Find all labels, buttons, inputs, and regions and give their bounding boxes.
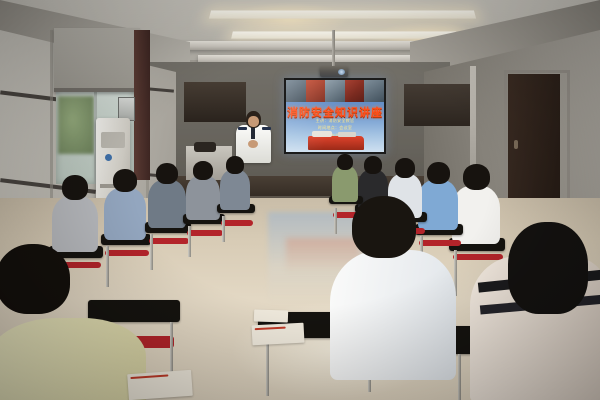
projector-mount-pole (332, 30, 335, 68)
chair-seat (149, 238, 189, 244)
chair-seat (419, 240, 461, 246)
chair-seat (221, 220, 253, 226)
attendee-head (427, 162, 450, 184)
notebook-left[interactable] (127, 370, 193, 400)
presenter-face (248, 116, 259, 127)
attendee-head (193, 161, 213, 180)
window-foliage (58, 96, 94, 154)
slide-photo-team (364, 80, 384, 102)
slide-fire-engine-graphic (308, 136, 364, 150)
attendee-foreground-center-head (352, 196, 416, 258)
notebook-center[interactable] (252, 323, 305, 346)
presenter-epaulet-left (238, 127, 247, 130)
attendee-foreground-left-head (0, 244, 70, 314)
attendee-torso (52, 196, 98, 252)
ceiling-light-strip-1 (209, 10, 476, 18)
attendee-torso (104, 188, 146, 240)
chair-leg (150, 234, 153, 270)
ceiling-light-strip-2 (231, 31, 458, 38)
right-wall-panel (404, 84, 470, 126)
window-curtain[interactable] (134, 30, 150, 180)
attendee-foreground-left-torso (0, 318, 146, 400)
attendee-foreground-center-torso (330, 250, 456, 380)
attendee-torso (148, 180, 186, 228)
meeting-room-photo: 消防安全知识讲座 主讲：消防安全教官 时间地点：会议室 主办：安全管理处 (0, 0, 600, 400)
attendee-torso (220, 170, 250, 210)
attendee-torso (418, 180, 458, 230)
chair-seat (453, 254, 503, 260)
door-handle-icon[interactable] (514, 140, 518, 149)
notebook-mid[interactable] (254, 309, 288, 322)
attendee-head (364, 156, 382, 174)
air-conditioner-display (101, 132, 125, 148)
air-conditioner-indicator (105, 154, 112, 161)
attendee-head (156, 163, 178, 184)
slide-photo-flame (345, 80, 365, 102)
attendee-torso (452, 186, 500, 244)
roller-blind[interactable] (54, 28, 140, 92)
slide-subtitle-2: 时间地点：会议室 (286, 125, 384, 131)
attendee-head (463, 164, 490, 190)
chair-leg (334, 208, 337, 234)
chair-leg (222, 216, 225, 242)
chair-leg (188, 226, 191, 257)
slide-photo-rescue (286, 80, 306, 102)
presenter-epaulet-right (262, 127, 271, 130)
projection-screen: 消防安全知识讲座 主讲：消防安全教官 时间地点：会议室 主办：安全管理处 (284, 78, 386, 154)
projected-slide: 消防安全知识讲座 主讲：消防安全教官 时间地点：会议室 主办：安全管理处 (286, 80, 384, 152)
attendee-head (62, 175, 88, 200)
chair-leg (106, 246, 109, 287)
attendee-torso (332, 166, 358, 202)
presenter-hands (248, 140, 258, 148)
attendee-foreground-right-head (508, 222, 588, 314)
slide-photo-fire (306, 80, 326, 102)
chair-seat (187, 230, 223, 236)
chair-seat (105, 250, 149, 256)
presenter-tie (251, 127, 255, 139)
attendee-head (337, 154, 353, 170)
podium-equipment (194, 142, 216, 152)
slide-photo-strip (286, 80, 384, 102)
attendee-head (226, 156, 244, 174)
slide-subtitle-1: 主讲：消防安全教官 (286, 118, 384, 124)
front-wall-left-panel (184, 82, 246, 122)
attendee-head (395, 158, 415, 178)
attendee-torso (186, 176, 220, 220)
roller-blind-bottom-bar[interactable] (54, 88, 140, 92)
attendee-head (113, 169, 137, 192)
slide-photo-drill (325, 80, 345, 102)
projector-lens-icon (338, 69, 345, 75)
